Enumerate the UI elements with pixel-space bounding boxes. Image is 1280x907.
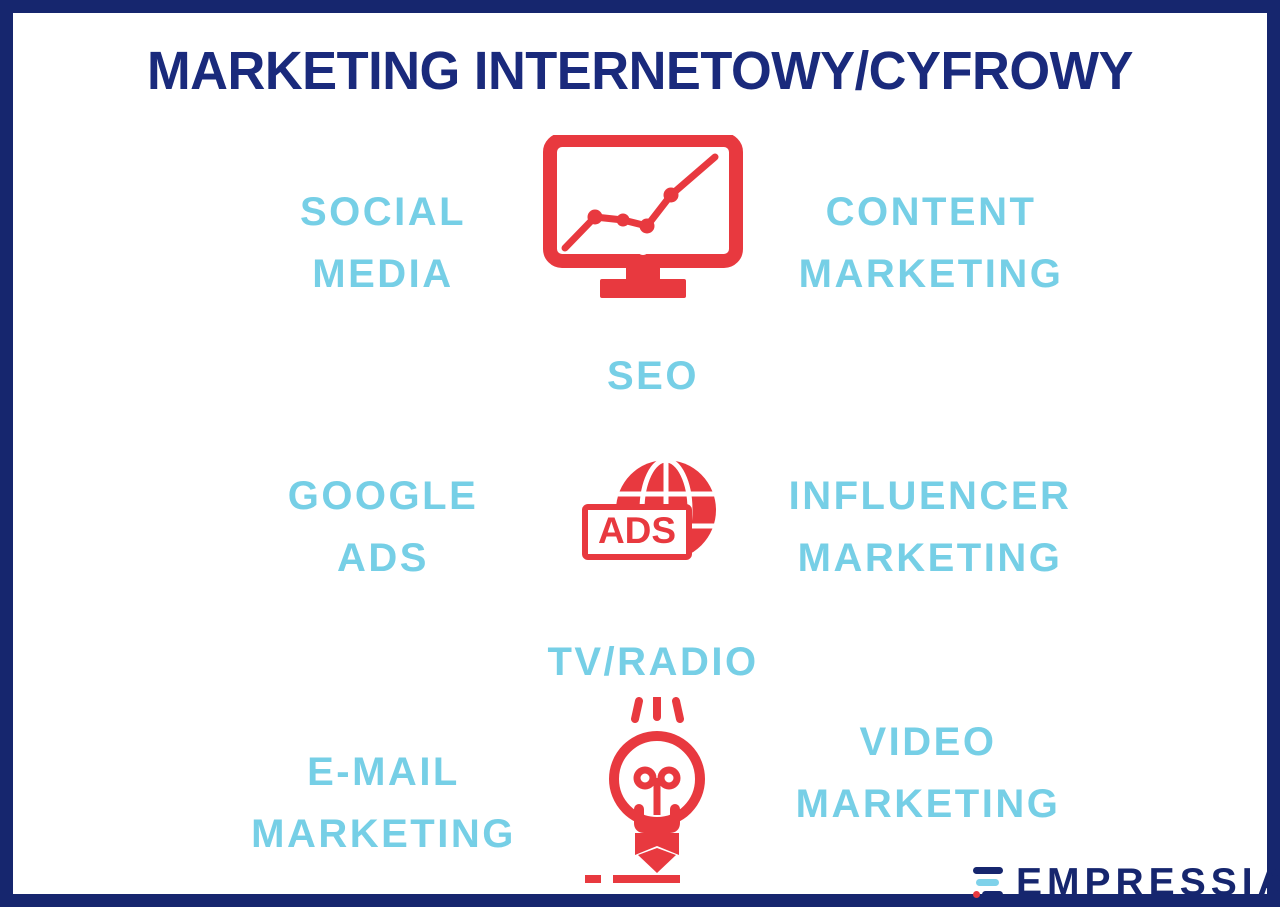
label-tv-radio: TV/RADIO	[493, 631, 813, 693]
label-video-marketing: VIDEO MARKETING	[753, 711, 1103, 835]
label-seo: SEO	[493, 345, 813, 407]
empressia-e-mark-icon	[973, 866, 1007, 899]
label-google-ads: GOOGLE ADS	[218, 465, 548, 589]
label-social-media: SOCIAL MEDIA	[223, 181, 543, 305]
logo-wordmark: EMPRESSIA	[1016, 863, 1280, 902]
lightbulb-pencil-icon	[581, 697, 731, 887]
label-influencer-marketing: INFLUENCER MARKETING	[755, 465, 1105, 589]
page-title: MARKETING INTERNETOWY/CYFROWY	[32, 40, 1248, 102]
logo-bar-middle	[976, 879, 999, 886]
empressia-logo: EMPRESSIA	[973, 858, 1263, 906]
poster-canvas: MARKETING INTERNETOWY/CYFROWY SOCIAL MED…	[13, 13, 1267, 894]
logo-bar-top	[973, 867, 1003, 874]
monitor-chart-icon	[543, 135, 743, 305]
globe-ads-icon: ADS	[581, 457, 726, 572]
poster-frame: MARKETING INTERNETOWY/CYFROWY SOCIAL MED…	[0, 0, 1280, 907]
label-email-marketing: E-MAIL MARKETING	[211, 741, 556, 865]
ads-badge-text: ADS	[598, 510, 676, 551]
label-content-marketing: CONTENT MARKETING	[761, 181, 1101, 305]
logo-bar-bottom	[982, 891, 1003, 898]
logo-red-dot	[973, 891, 980, 898]
